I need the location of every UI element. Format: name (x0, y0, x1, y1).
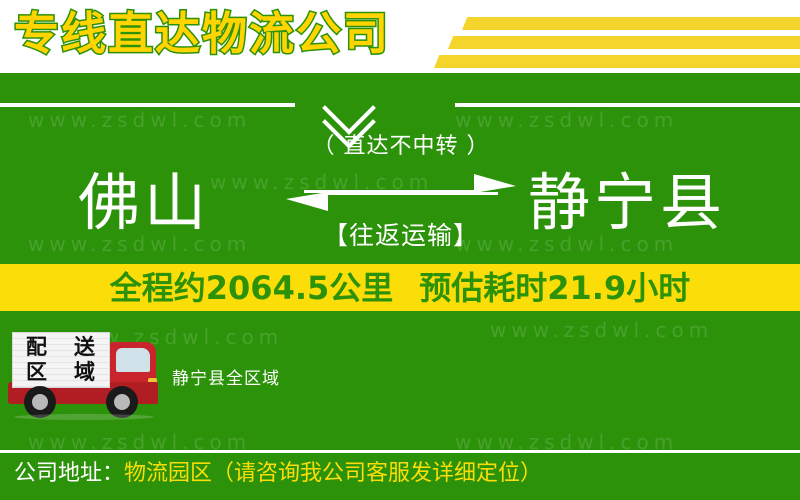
truck-shadow (14, 414, 154, 420)
footer-divider (0, 450, 800, 453)
address-value: 物流园区（请咨询我公司客服发详细定位） (124, 461, 542, 486)
divider-line-right (455, 103, 800, 107)
address-label: 公司地址： (14, 461, 124, 486)
destination-city: 静宁县 (528, 163, 726, 243)
bidirectional-arrows (286, 174, 516, 214)
distance-value: 全程约2064.5公里 (110, 269, 394, 307)
watermark: www.zsdwl.com (490, 318, 713, 342)
truck-window (116, 348, 150, 372)
cargo-char-3: 区 (13, 360, 61, 385)
stats-text: 全程约2064.5公里预估耗时21.9小时 (0, 266, 800, 310)
header-stripe-3 (434, 55, 800, 68)
route-note-direct: （ 直达不中转 ） (286, 132, 516, 162)
divider-line-left (0, 103, 295, 107)
route-middle: （ 直达不中转 ） 【往返运输】 (286, 132, 516, 257)
header-stripe-2 (448, 36, 800, 49)
truck-cargo-box: 配 送 区 域 (12, 332, 110, 388)
stats-band: 全程约2064.5公里预估耗时21.9小时 (0, 264, 800, 311)
header-stripe-1 (462, 17, 800, 30)
route-note-roundtrip: 【往返运输】 (286, 220, 516, 252)
origin-city: 佛山 (78, 163, 210, 243)
truck-cargo-label: 配 送 区 域 (13, 333, 109, 387)
header-underline (0, 73, 800, 77)
header-title: 专线直达物流公司 (14, 5, 390, 63)
arrow-right-icon (304, 174, 516, 193)
cargo-char-2: 送 (61, 335, 109, 360)
truck-wheel-rear (24, 386, 56, 418)
arrow-left-icon (286, 192, 498, 211)
cargo-char-4: 域 (61, 360, 109, 385)
truck-wheel-front (106, 386, 138, 418)
duration-value: 预估耗时21.9小时 (419, 269, 690, 307)
chevron-divider (0, 78, 800, 140)
cargo-char-1: 配 (13, 335, 61, 360)
header-stripes-decoration (420, 0, 800, 73)
footer-address: 公司地址：物流园区（请咨询我公司客服发详细定位） (14, 458, 542, 490)
banner-header: 专线直达物流公司 (0, 0, 800, 73)
delivery-truck-icon: 配 送 区 域 (8, 330, 168, 420)
delivery-coverage-label: 静宁县全区域 (172, 368, 280, 390)
logistics-banner: 专线直达物流公司 www.zsdwl.com www.zsdwl.com www… (0, 0, 800, 500)
